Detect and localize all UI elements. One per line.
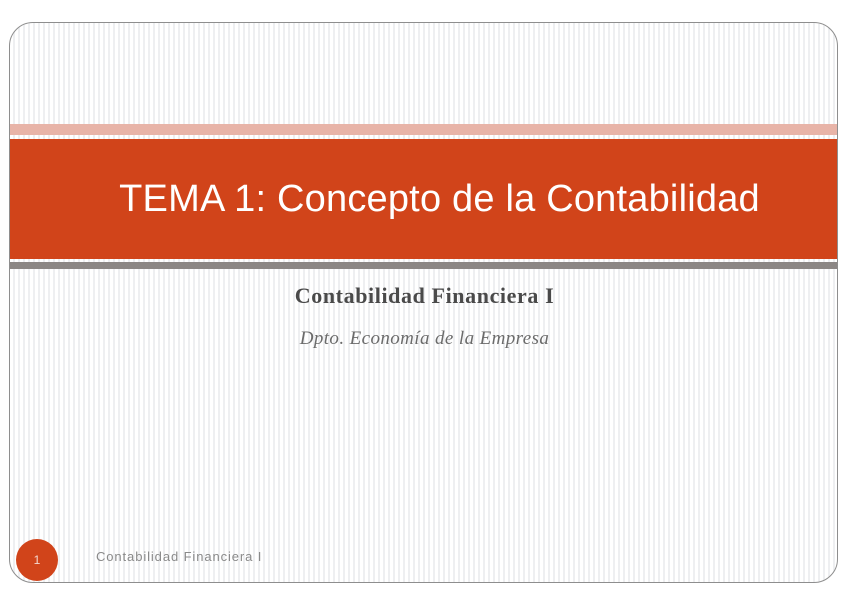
slide-number-badge: 1 bbox=[16, 539, 58, 581]
subtitle-block: Contabilidad Financiera I Dpto. Economía… bbox=[10, 281, 838, 354]
slide-root: TEMA 1: Concepto de la Contabilidad Cont… bbox=[0, 0, 848, 599]
subtitle-department: Dpto. Economía de la Empresa bbox=[10, 324, 838, 354]
footer-label: Contabilidad Financiera I bbox=[96, 549, 262, 564]
title-accent-rule-gray bbox=[9, 262, 838, 269]
title-block: TEMA 1: Concepto de la Contabilidad bbox=[9, 139, 838, 259]
title-accent-rule-pink bbox=[9, 124, 838, 135]
subtitle-course-name: Contabilidad Financiera I bbox=[10, 281, 838, 311]
title-band: TEMA 1: Concepto de la Contabilidad bbox=[9, 124, 838, 269]
slide-number-label: 1 bbox=[34, 554, 41, 566]
slide-frame: TEMA 1: Concepto de la Contabilidad Cont… bbox=[9, 22, 838, 583]
page-title: TEMA 1: Concepto de la Contabilidad bbox=[91, 178, 760, 221]
